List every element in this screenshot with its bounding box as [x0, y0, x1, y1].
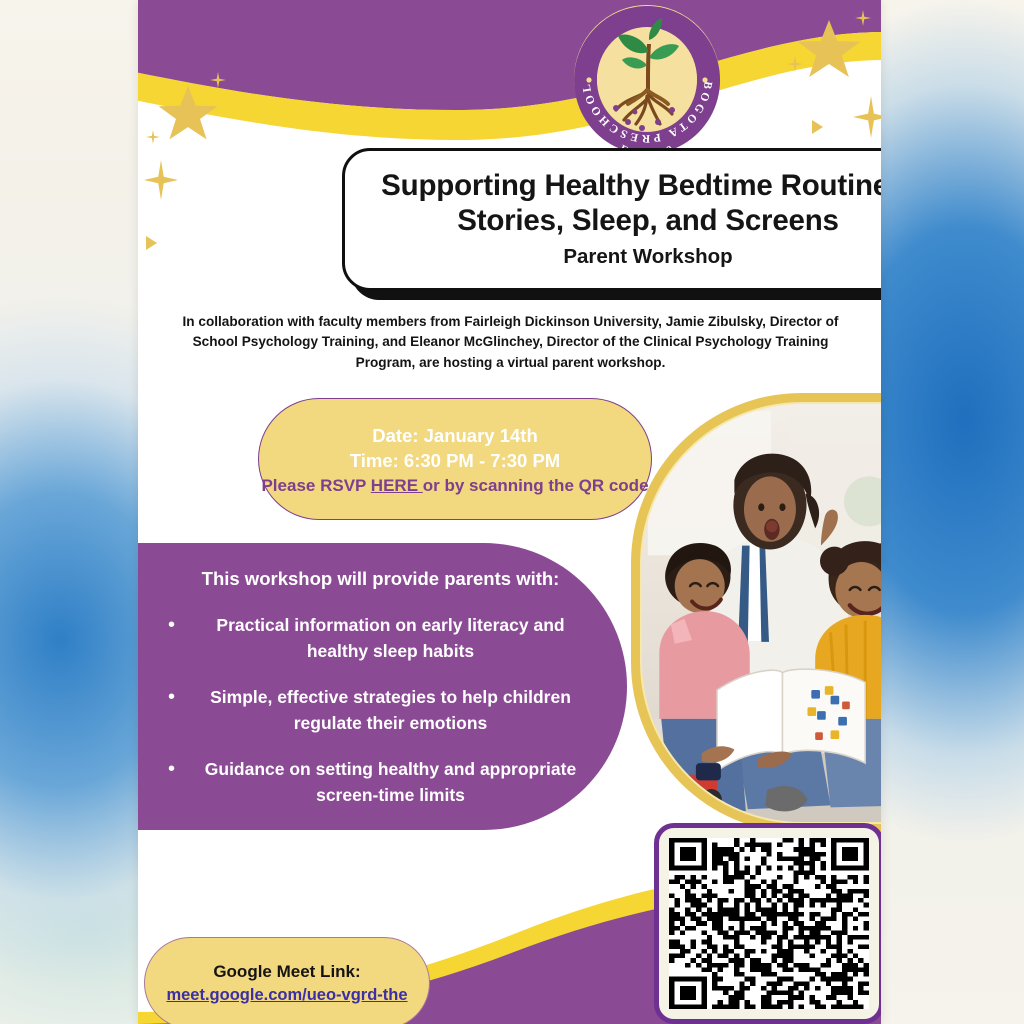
benefits-block: This workshop will provide parents with:… [138, 543, 627, 830]
benefit-text: Practical information on early literacy … [188, 613, 593, 665]
bullet-icon: • [168, 685, 188, 711]
list-item: • Guidance on setting healthy and approp… [168, 757, 593, 809]
family-reading-illustration [642, 404, 881, 822]
event-poster: BOGOTA PRESCHOOL EST. 2019 [138, 0, 881, 1024]
qr-code-panel[interactable] [654, 823, 881, 1024]
event-details-pill: Date: January 14th Time: 6:30 PM - 7:30 … [258, 398, 652, 520]
triangle-icon [812, 120, 823, 134]
benefit-text: Simple, effective strategies to help chi… [188, 685, 593, 737]
rsvp-prefix: Please RSVP [261, 476, 370, 495]
list-item: • Simple, effective strategies to help c… [168, 685, 593, 737]
collaboration-paragraph: In collaboration with faculty members fr… [168, 312, 853, 373]
list-item: • Practical information on early literac… [168, 613, 593, 665]
page-backdrop: BOGOTA PRESCHOOL EST. 2019 [0, 0, 1024, 1024]
photo-frame [631, 393, 881, 833]
family-reading-photo [640, 402, 881, 824]
rsvp-instruction: Please RSVP HERE or by scanning the QR c… [261, 475, 648, 498]
event-time: Time: 6:30 PM - 7:30 PM [350, 449, 560, 474]
event-date: Date: January 14th [372, 424, 538, 449]
page-title: Supporting Healthy Bedtime Routines: Sto… [381, 168, 881, 239]
title-line-2: Stories, Sleep, and Screens [457, 204, 839, 237]
school-logo: BOGOTA PRESCHOOL EST. 2019 [572, 4, 722, 154]
google-meet-label: Google Meet Link: [213, 962, 360, 982]
poster-title-card: Supporting Healthy Bedtime Routines: Sto… [342, 148, 881, 291]
triangle-icon [146, 236, 157, 250]
title-subtitle: Parent Workshop [563, 245, 732, 269]
google-meet-link[interactable]: meet.google.com/ueo-vgrd-the [166, 986, 407, 1005]
title-line-1: Supporting Healthy Bedtime Routines: [381, 169, 881, 202]
bullet-icon: • [168, 757, 188, 783]
bullet-icon: • [168, 613, 188, 639]
rsvp-suffix: or by scanning the QR code [423, 476, 649, 495]
benefits-heading: This workshop will provide parents with: [168, 567, 593, 591]
benefit-text: Guidance on setting healthy and appropri… [188, 757, 593, 809]
rsvp-here-link[interactable]: HERE [371, 476, 423, 495]
qr-code-icon[interactable] [669, 838, 869, 1009]
google-meet-pill: Google Meet Link: meet.google.com/ueo-vg… [144, 937, 430, 1024]
